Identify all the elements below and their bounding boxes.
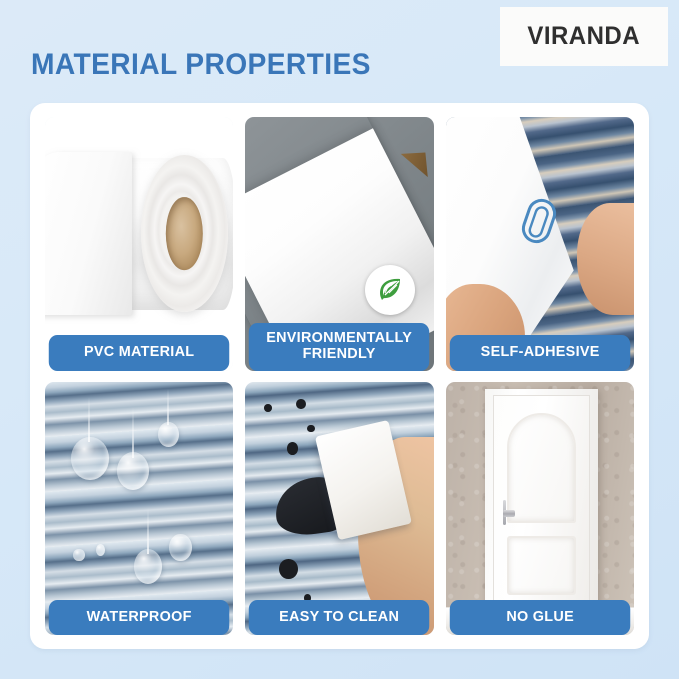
door-upper-inset: [507, 413, 576, 523]
door-handle: [503, 510, 515, 517]
door-frame: [485, 389, 598, 612]
water-drop-trail: [132, 407, 134, 458]
features-grid: PVC MATERIAL: [45, 117, 634, 635]
feature-label-no-glue: NO GLUE: [449, 600, 630, 635]
pvc-roll-image: [45, 117, 233, 371]
feature-label-waterproof: WATERPROOF: [49, 600, 230, 635]
water-drop: [134, 549, 162, 584]
water-drop: [73, 549, 84, 562]
stain-spot: [287, 442, 298, 455]
water-drop: [169, 534, 192, 562]
feature-label-environmentally-friendly: ENVIRONMENTALLY FRIENDLY: [249, 323, 430, 370]
water-drop-trail: [147, 508, 149, 554]
waterproof-image: [45, 382, 233, 636]
brand-logo-text: VIRANDA: [528, 22, 641, 51]
roll-sheet-shape: [45, 152, 132, 314]
door-panel: [493, 395, 590, 609]
feature-tile-self-adhesive[interactable]: SELF-ADHESIVE: [446, 117, 634, 371]
green-leaf-icon: [365, 265, 415, 315]
feature-label-line-2: FRIENDLY: [303, 345, 376, 362]
page-title: MATERIAL PROPERTIES: [31, 48, 371, 82]
feature-label-pvc-material: PVC MATERIAL: [49, 335, 230, 370]
feature-label-easy-to-clean: EASY TO CLEAN: [249, 600, 430, 635]
roll-corner-edge-shape: [401, 144, 434, 184]
stain-spot: [264, 404, 272, 412]
no-glue-door-image: [446, 382, 634, 636]
features-card: PVC MATERIAL: [30, 103, 649, 649]
water-drop-trail: [88, 397, 90, 443]
brand-logo: VIRANDA: [500, 7, 668, 66]
water-drop-trail: [167, 389, 169, 424]
stain-spot: [296, 399, 305, 409]
roll-cardboard-core: [166, 197, 202, 271]
easy-to-clean-image: [245, 382, 433, 636]
feature-tile-pvc-material[interactable]: PVC MATERIAL: [45, 117, 233, 371]
feature-label-line-1: ENVIRONMENTALLY: [267, 329, 413, 346]
water-drop: [158, 422, 179, 447]
blue-wood-grain-surface: [45, 382, 233, 636]
feature-tile-easy-to-clean[interactable]: EASY TO CLEAN: [245, 382, 433, 636]
self-adhesive-image: [446, 117, 634, 371]
stain-spot: [307, 425, 315, 433]
feature-tile-waterproof[interactable]: WATERPROOF: [45, 382, 233, 636]
door-lower-inset: [507, 536, 576, 595]
water-drop: [117, 452, 149, 490]
feature-tile-environmentally-friendly[interactable]: ENVIRONMENTALLY FRIENDLY: [245, 117, 433, 371]
roll-end-shape: [141, 155, 228, 312]
page-header: MATERIAL PROPERTIES VIRANDA: [0, 0, 679, 103]
feature-label-self-adhesive: SELF-ADHESIVE: [449, 335, 630, 370]
feature-tile-no-glue[interactable]: NO GLUE: [446, 382, 634, 636]
